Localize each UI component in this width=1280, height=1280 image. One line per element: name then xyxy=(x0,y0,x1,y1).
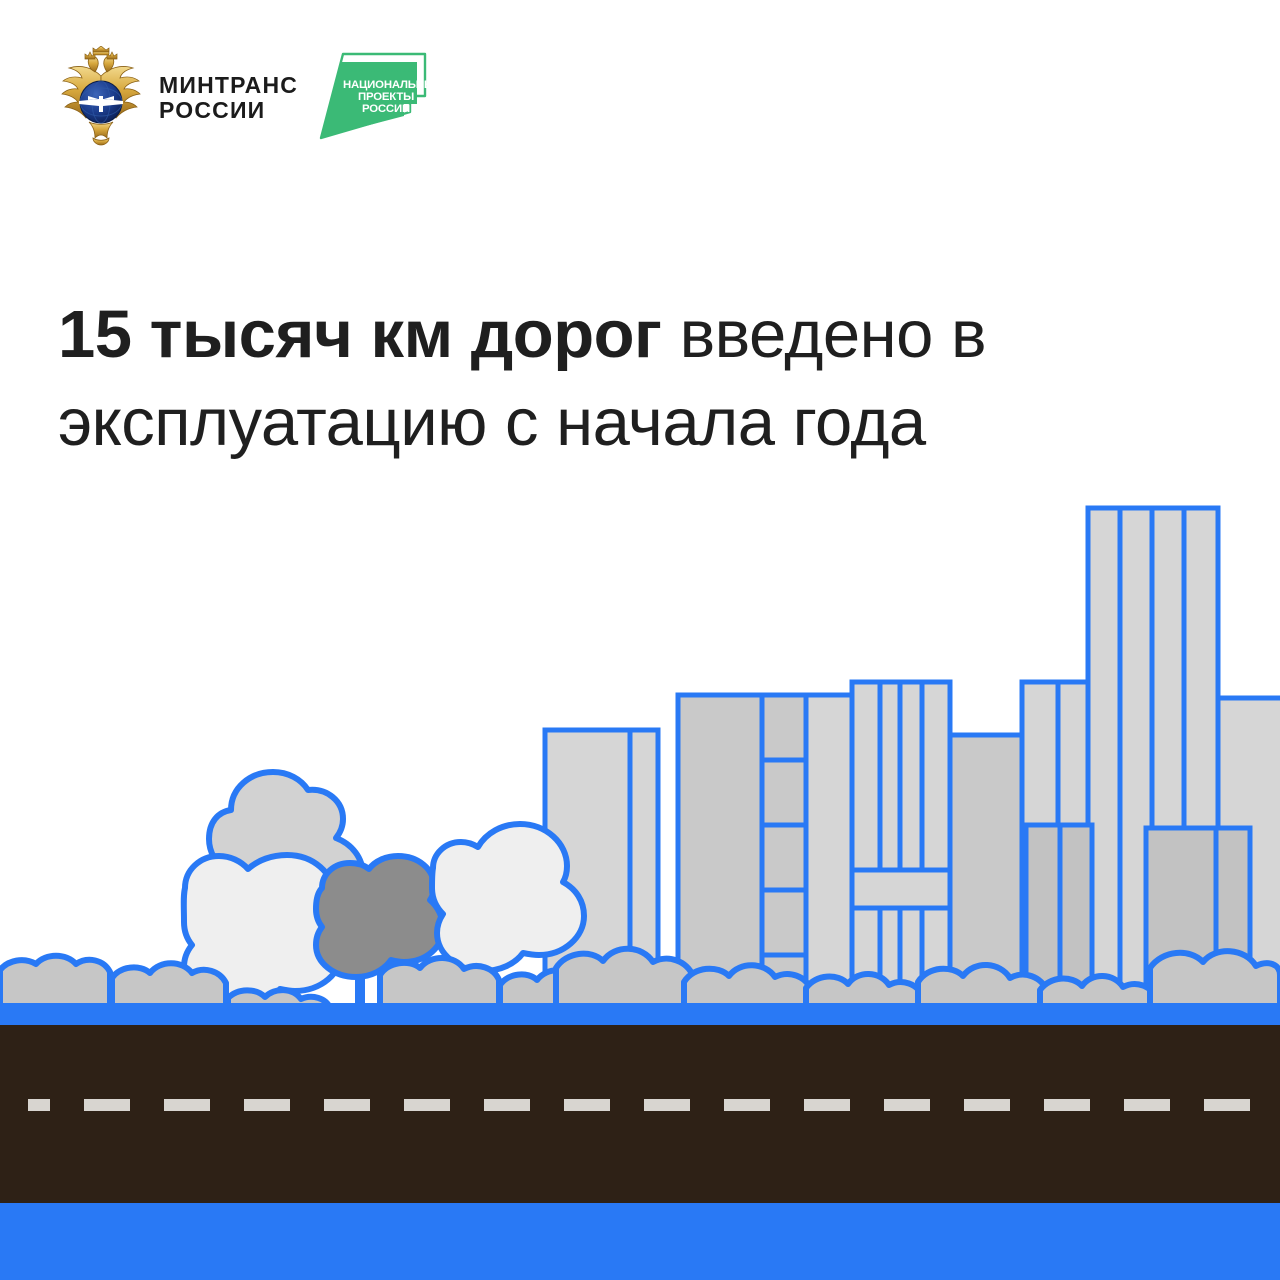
road-bottom-blue-band xyxy=(0,1203,1280,1280)
road-dash xyxy=(644,1099,690,1111)
road-dash xyxy=(1204,1099,1250,1111)
infographic-page: МИНТРАНС РОССИИ ИНФРАСТРУКТУРА НАЦИОНАЛЬ… xyxy=(0,0,1280,1280)
natproj-line1: НАЦИОНАЛЬНЫЕ xyxy=(343,79,428,91)
road-dash xyxy=(884,1099,930,1111)
mintrans-wordmark: МИНТРАНС РОССИИ xyxy=(159,69,298,123)
city-scene-illustration xyxy=(0,470,1280,1280)
skyline-buildings xyxy=(545,508,1280,1020)
road-dash xyxy=(84,1099,130,1111)
road-dash xyxy=(564,1099,610,1111)
road-dash xyxy=(324,1099,370,1111)
national-projects-logo: ИНФРАСТРУКТУРА НАЦИОНАЛЬНЫЕ ПРОЕКТЫ РОСС… xyxy=(318,52,428,140)
road-surface xyxy=(0,1025,1280,1203)
road-dash xyxy=(28,1099,50,1111)
headline-strong: 15 тысяч км дорог xyxy=(58,297,661,372)
road-dash xyxy=(164,1099,210,1111)
road-dash xyxy=(1044,1099,1090,1111)
header: МИНТРАНС РОССИИ ИНФРАСТРУКТУРА НАЦИОНАЛЬ… xyxy=(0,0,1280,160)
road-dash xyxy=(404,1099,450,1111)
natproj-kicker: ИНФРАСТРУКТУРА xyxy=(350,67,417,74)
russian-double-headed-eagle-icon xyxy=(55,46,147,146)
road-dash xyxy=(724,1099,770,1111)
road-top-blue-band xyxy=(0,1003,1280,1025)
road-dash xyxy=(484,1099,530,1111)
mintrans-logo: МИНТРАНС РОССИИ xyxy=(55,46,298,146)
road-dash xyxy=(1124,1099,1170,1111)
road-dash xyxy=(964,1099,1010,1111)
road-center-line xyxy=(0,1098,1280,1112)
page-headline: 15 тысяч км дорог введено в эксплуатацию… xyxy=(58,291,1178,467)
road-dash xyxy=(244,1099,290,1111)
natproj-line2: ПРОЕКТЫ xyxy=(358,91,414,103)
road-dash xyxy=(804,1099,850,1111)
natproj-line3: РОССИИ xyxy=(362,103,410,115)
